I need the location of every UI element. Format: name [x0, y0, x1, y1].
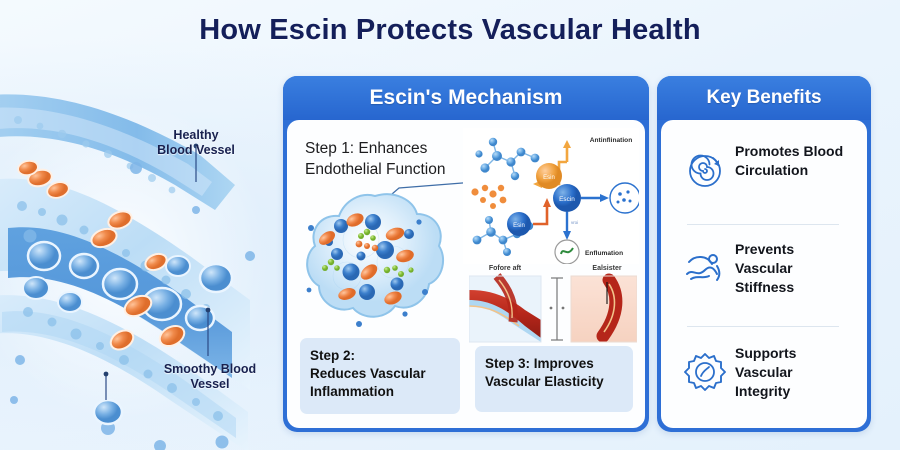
benefit-2-line2: Vascular	[735, 363, 859, 382]
cell-cluster-illustration	[301, 188, 449, 330]
benefit-2-line1: Supports	[735, 344, 859, 363]
benefit-1-line2: Vascular	[735, 259, 859, 278]
label-healthy-blood-vessel: Healthy Blood Vessel	[140, 128, 252, 158]
step-2-line1: Step 2:	[310, 347, 450, 365]
infographic-canvas: How Escin Protects Vascular Health	[0, 0, 900, 450]
step-1-line1: Step 1: Enhances	[305, 138, 485, 159]
benefit-item-stiffness[interactable]: Prevents Vascular Stiffness	[661, 226, 867, 322]
benefit-item-integrity[interactable]: Supports Vascular Integrity	[661, 330, 867, 426]
step-2-box: Step 2: Reduces Vascular Inflammation	[300, 338, 460, 414]
benefit-0-line1: Promotes Blood	[735, 142, 859, 161]
label-smoothy-line2: Vessel	[150, 377, 270, 392]
benefit-label-circulation: Promotes Blood Circulation	[735, 142, 859, 180]
label-healthy-line2: Blood Vessel	[140, 143, 252, 158]
benefit-item-circulation[interactable]: Promotes Blood Circulation	[661, 128, 867, 224]
elasticity-label-right: Ealsister	[592, 265, 621, 272]
step-3-line2: Vascular Elasticity	[485, 373, 623, 391]
benefits-divider-1	[687, 224, 839, 225]
pathway-node-upper: Esin	[543, 175, 555, 181]
benefits-panel: Key Benefits Promotes Blood Circulation	[657, 76, 871, 432]
blood-vessel-illustration: Healthy Blood Vessel Smoothy Blood Vesse…	[0, 60, 283, 450]
mechanism-panel-body: Step 1: Enhances Endothelial Function	[287, 120, 645, 428]
label-smoothy-blood-vessel: Smoothy Blood Vessel	[150, 362, 270, 392]
benefit-0-line2: Circulation	[735, 161, 859, 180]
step-3-line1: Step 3: Improves	[485, 355, 623, 373]
mechanism-panel: Escin's Mechanism Step 1: Enhances Endot…	[283, 76, 649, 432]
escin-pathway-diagram: Esin Escin Esin Antinflination	[463, 128, 639, 264]
label-healthy-line1: Healthy	[140, 128, 252, 143]
benefits-panel-header: Key Benefits	[657, 76, 871, 120]
step-3-box: Step 3: Improves Vascular Elasticity	[475, 346, 633, 412]
pathway-node-center: Escin	[559, 196, 575, 203]
gear-shield-icon	[683, 350, 727, 394]
page-title: How Escin Protects Vascular Health	[0, 14, 900, 47]
pathway-label-bottom: Enflumation	[585, 250, 623, 257]
label-smoothy-line1: Smoothy Blood	[150, 362, 270, 377]
step-2-line3: Inflammation	[310, 383, 450, 401]
pathway-label-top: Antinflination	[590, 137, 632, 144]
elasticity-illustration: Fofore aft Ealsister	[469, 260, 637, 344]
circulation-spiral-icon	[683, 148, 727, 192]
benefits-panel-body: Promotes Blood Circulation Prevents	[661, 120, 867, 428]
benefit-2-line3: Integrity	[735, 382, 859, 401]
benefit-label-stiffness: Prevents Vascular Stiffness	[735, 240, 859, 297]
mechanism-panel-header: Escin's Mechanism	[283, 76, 649, 120]
flow-motion-icon	[683, 246, 727, 290]
elasticity-label-left: Fofore aft	[489, 265, 522, 272]
step-2-line2: Reduces Vascular	[310, 365, 450, 383]
benefits-divider-2	[687, 326, 839, 327]
pathway-node-left: Esin	[513, 223, 525, 229]
benefit-1-line1: Prevents	[735, 240, 859, 259]
benefit-1-line3: Stiffness	[735, 278, 859, 297]
step-1-text: Step 1: Enhances Endothelial Function	[305, 138, 485, 180]
benefit-label-integrity: Supports Vascular Integrity	[735, 344, 859, 401]
pathway-label-edge: vroi	[571, 220, 578, 225]
